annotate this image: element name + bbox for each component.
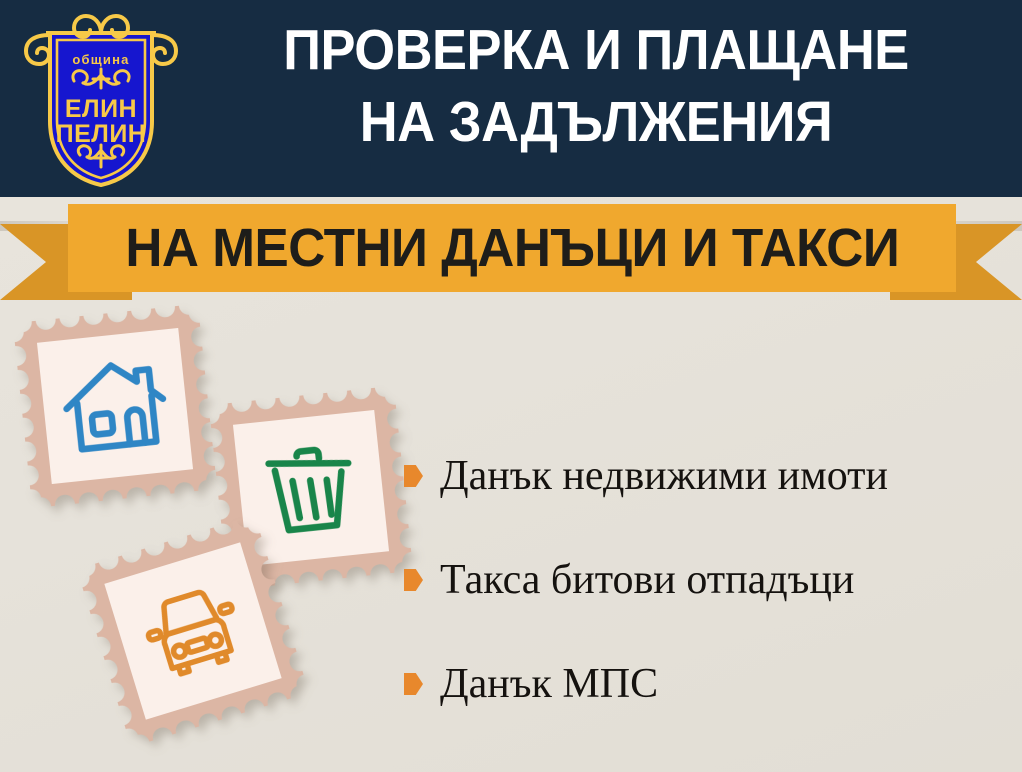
logo-text-obshtina: община	[72, 52, 129, 67]
list-item-label: Данък недвижими имоти	[440, 455, 888, 497]
arrow-bullet-icon	[404, 465, 423, 487]
list-item[interactable]: Данък МПС	[404, 632, 1004, 736]
list-item-label: Данък МПС	[440, 663, 658, 705]
house-icon	[55, 346, 176, 467]
header-banner: община ЕЛИН ПЕЛИН ПРОВЕРКА	[0, 0, 1022, 197]
logo-text-elin: ЕЛИН	[65, 95, 137, 123]
list-item[interactable]: Такса битови отпадъци	[404, 528, 1004, 632]
trash-bin-icon	[251, 428, 372, 549]
poster-canvas: община ЕЛИН ПЕЛИН ПРОВЕРКА	[0, 0, 1022, 772]
list-item-label: Такса битови отпадъци	[440, 559, 854, 601]
subtitle-ribbon: НА МЕСТНИ ДАНЪЦИ И ТАКСИ	[0, 196, 1022, 306]
ribbon-label: НА МЕСТНИ ДАНЪЦИ И ТАКСИ	[125, 217, 899, 279]
tax-types-list: Данък недвижими имоти Такса битови отпад…	[404, 424, 1004, 736]
arrow-bullet-icon	[404, 673, 423, 695]
ribbon-bar: НА МЕСТНИ ДАНЪЦИ И ТАКСИ	[68, 204, 956, 292]
municipality-logo: община ЕЛИН ПЕЛИН	[22, 9, 180, 191]
list-item[interactable]: Данък недвижими имоти	[404, 424, 1004, 528]
arrow-bullet-icon	[404, 569, 423, 591]
page-title: ПРОВЕРКА И ПЛАЩАНЕ НА ЗАДЪЛЖЕНИЯ	[219, 14, 973, 158]
stamp-card-property	[13, 304, 217, 508]
